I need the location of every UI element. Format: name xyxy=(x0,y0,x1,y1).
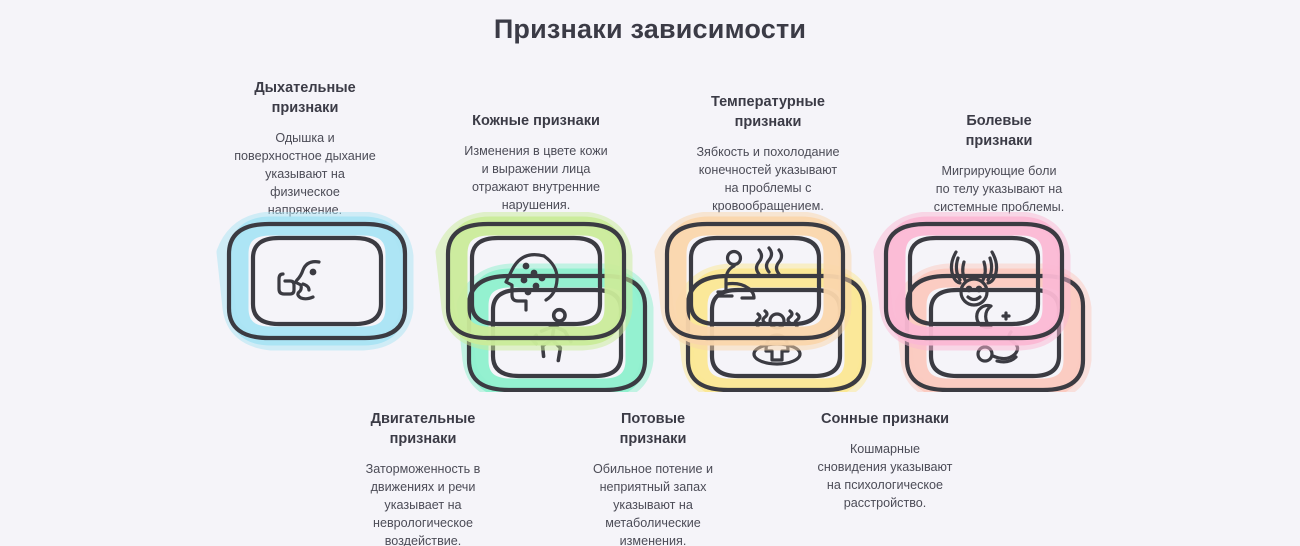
label-description: Одышка иповерхностное дыханиеуказывают н… xyxy=(218,129,392,219)
label-title: Кожные признаки xyxy=(448,111,624,131)
label-description: Изменения в цвете кожии выражении лицаот… xyxy=(448,142,624,214)
label-title: Температурныепризнаки xyxy=(678,92,858,132)
label-block-sweat: Потовыепризнаки Обильное потение инеприя… xyxy=(565,409,741,546)
label-description: Мигрирующие болипо телу указывают насист… xyxy=(910,162,1088,216)
label-description: Кошмарныесновидения указываютна психолог… xyxy=(795,440,975,512)
label-description: Зябкость и похолоданиеконечностей указыв… xyxy=(678,143,858,215)
label-block-breathing: Дыхательныепризнаки Одышка иповерхностно… xyxy=(218,78,392,219)
page-title: Признаки зависимости xyxy=(0,14,1300,45)
label-block-pain: Болевыепризнаки Мигрирующие болипо телу … xyxy=(910,111,1088,216)
label-block-skin: Кожные признаки Изменения в цвете кожии … xyxy=(448,111,624,214)
label-title: Дыхательныепризнаки xyxy=(218,78,392,118)
label-description: Заторможенность вдвижениях и речиуказыва… xyxy=(333,460,513,546)
breathing-face-icon xyxy=(279,262,319,299)
label-block-motor: Двигательныепризнаки Заторможенность вдв… xyxy=(333,409,513,546)
label-title: Двигательныепризнаки xyxy=(333,409,513,449)
label-description: Обильное потение инеприятный запахуказыв… xyxy=(565,460,741,546)
label-title: Болевыепризнаки xyxy=(910,111,1088,151)
chain-link-breathing xyxy=(223,218,407,344)
label-title: Сонные признаки xyxy=(795,409,975,429)
headache-face-icon xyxy=(951,252,996,305)
chain-graphic xyxy=(195,212,1110,392)
label-title: Потовыепризнаки xyxy=(565,409,741,449)
label-block-temperature: Температурныепризнаки Зябкость и похолод… xyxy=(678,92,858,215)
label-block-sleep: Сонные признаки Кошмарныесновидения указ… xyxy=(795,409,975,512)
infographic-page: Признаки зависимости Дыхательныепризнаки… xyxy=(0,0,1300,546)
